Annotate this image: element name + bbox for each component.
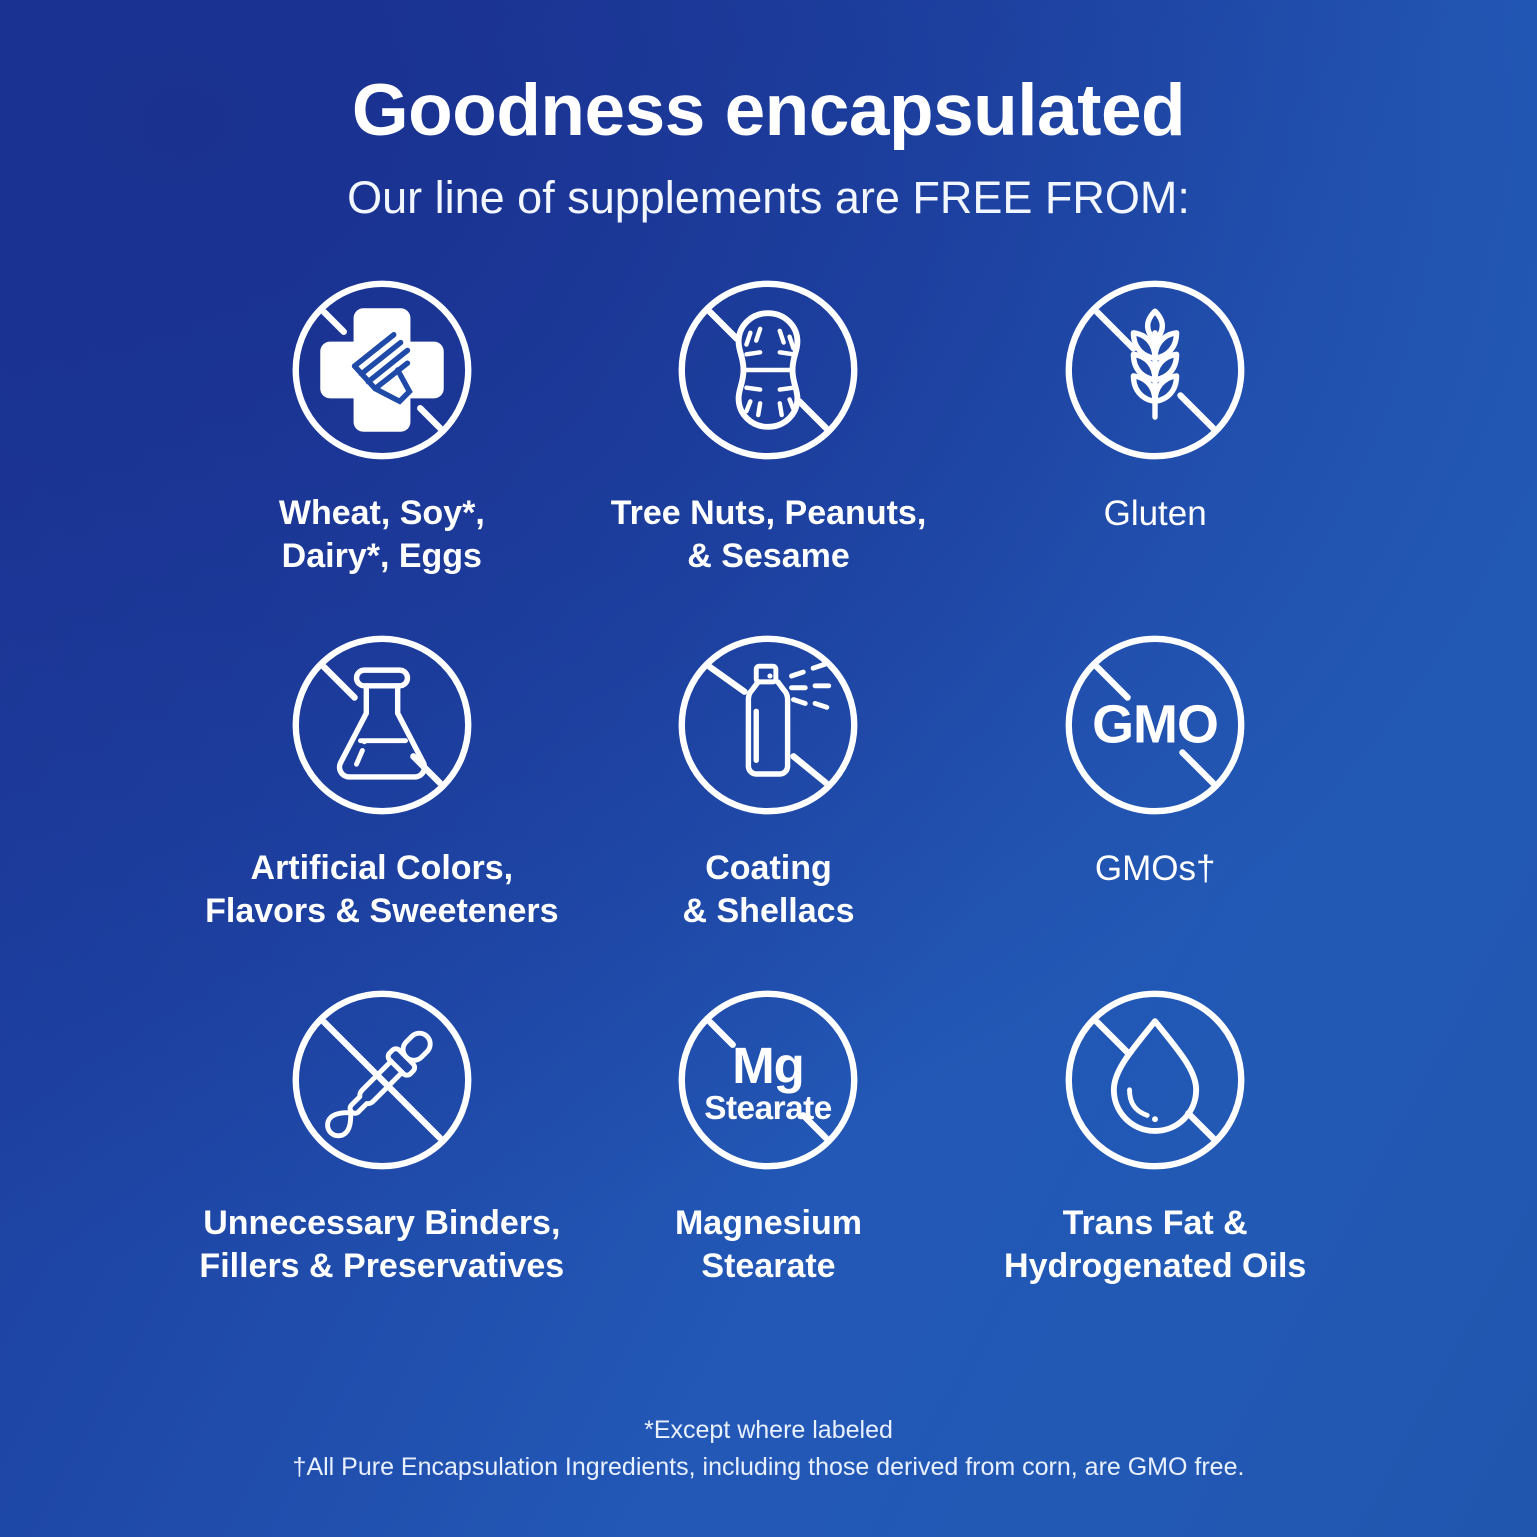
no-chemistry-flask-icon — [284, 627, 480, 823]
free-from-grid: Wheat, Soy*, Dairy*, Eggs — [189, 272, 1349, 1337]
no-spray-can-icon — [670, 627, 866, 823]
free-from-item-label: Trans Fat & Hydrogenated Oils — [1004, 1202, 1306, 1288]
footnote-dagger: †All Pure Encapsulation Ingredients, inc… — [0, 1449, 1537, 1486]
no-allergens-cross-fork-icon — [284, 272, 480, 468]
free-from-item-label: Coating & Shellacs — [683, 847, 855, 933]
free-from-item-binders: Unnecessary Binders, Fillers & Preservat… — [189, 982, 576, 1337]
free-from-item-nuts: Tree Nuts, Peanuts, & Sesame — [575, 272, 962, 627]
free-from-item-trans-fat: Trans Fat & Hydrogenated Oils — [962, 982, 1349, 1337]
free-from-item-label: Gluten — [1104, 492, 1207, 536]
footnote-asterisk: *Except where labeled — [0, 1412, 1537, 1449]
no-gmo-icon: GMO — [1057, 627, 1253, 823]
free-from-item-mg-stearate: Mg Stearate Magnesium Stearate — [575, 982, 962, 1337]
free-from-item-label: Artificial Colors, Flavors & Sweeteners — [205, 847, 558, 933]
page-subtitle: Our line of supplements are FREE FROM: — [0, 175, 1537, 220]
free-from-item-label: Magnesium Stearate — [675, 1202, 862, 1288]
gmo-badge-text: GMO — [1092, 695, 1218, 755]
free-from-item-label: Tree Nuts, Peanuts, & Sesame — [611, 492, 927, 578]
mg-badge-text: Mg — [733, 1037, 805, 1094]
free-from-item-label: GMOs† — [1095, 847, 1216, 891]
footnotes: *Except where labeled †All Pure Encapsul… — [0, 1412, 1537, 1485]
no-wheat-stalk-icon — [1057, 272, 1253, 468]
free-from-item-allergens: Wheat, Soy*, Dairy*, Eggs — [189, 272, 576, 627]
free-from-item-label: Unnecessary Binders, Fillers & Preservat… — [199, 1202, 564, 1288]
page-title: Goodness encapsulated — [0, 74, 1537, 147]
free-from-item-label: Wheat, Soy*, Dairy*, Eggs — [279, 492, 485, 578]
no-dropper-pipette-icon — [284, 982, 480, 1178]
no-oil-droplet-icon — [1057, 982, 1253, 1178]
free-from-item-gluten: Gluten — [962, 272, 1349, 627]
free-from-item-coating: Coating & Shellacs — [575, 627, 962, 982]
free-from-item-artificial-colors: Artificial Colors, Flavors & Sweeteners — [189, 627, 576, 982]
infographic-page: Goodness encapsulated Our line of supple… — [0, 0, 1537, 1537]
no-peanut-icon — [670, 272, 866, 468]
no-magnesium-stearate-icon: Mg Stearate — [670, 982, 866, 1178]
free-from-item-gmo: GMO GMOs† — [962, 627, 1349, 982]
header: Goodness encapsulated Our line of supple… — [0, 0, 1537, 220]
